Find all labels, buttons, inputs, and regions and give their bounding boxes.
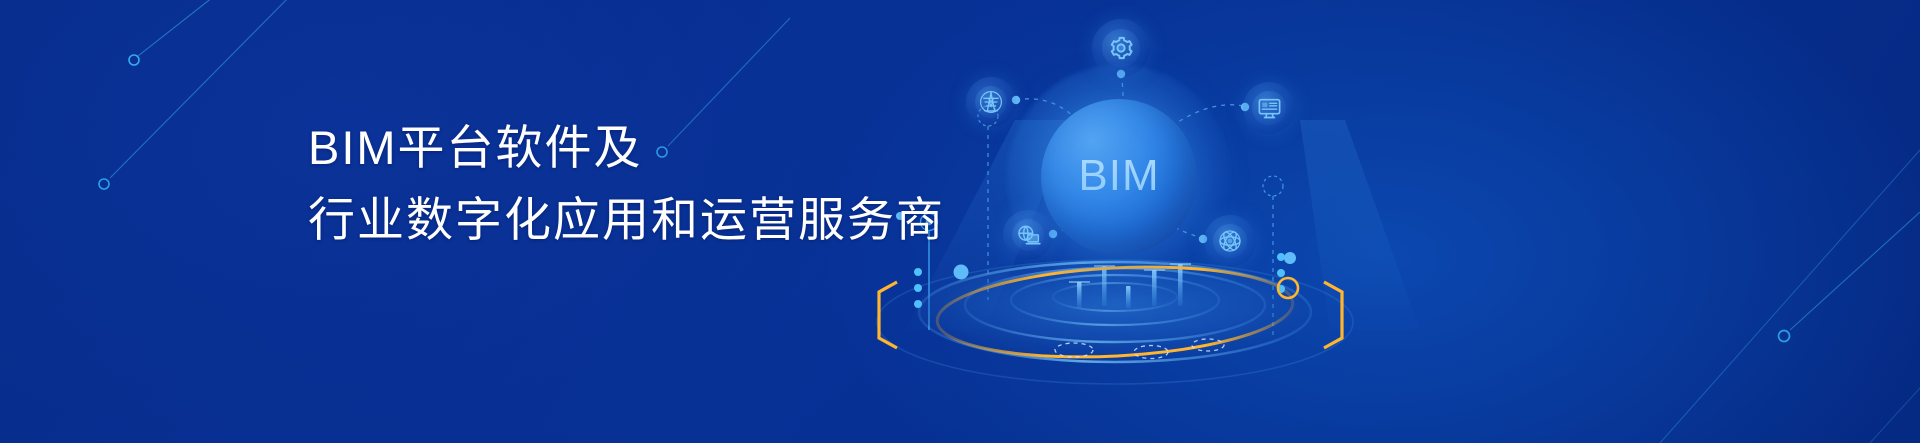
bracket-left — [879, 282, 897, 348]
bim-hero-banner: BIM平台软件及 行业数字化应用和运营服务商 — [0, 0, 1920, 443]
headline-line-2: 行业数字化应用和运营服务商 — [308, 184, 945, 256]
sphere-label: BIM — [1041, 99, 1197, 255]
bubble-inner-ring — [1252, 91, 1285, 124]
bim-sphere: BIM — [1041, 99, 1197, 255]
bracket-right — [1324, 282, 1342, 348]
bubble-inner-ring — [975, 86, 1007, 118]
node-bubble-power-tower[interactable] — [966, 77, 1016, 127]
node-bubble-globe-laptop[interactable] — [1003, 210, 1053, 260]
headline-line-1: BIM平台软件及 — [308, 112, 945, 184]
dot-column-left — [914, 268, 922, 308]
node-bubble-monitor[interactable] — [1243, 82, 1295, 134]
hero-illustration — [0, 0, 1920, 443]
bubble-inner-ring — [1213, 224, 1246, 257]
headline-block: BIM平台软件及 行业数字化应用和运营服务商 — [308, 112, 945, 256]
node-bubble-network[interactable] — [1204, 215, 1256, 267]
bubble-inner-ring — [1012, 219, 1044, 251]
bubble-inner-ring — [1102, 29, 1139, 66]
node-bubble-gear[interactable] — [1092, 19, 1150, 77]
